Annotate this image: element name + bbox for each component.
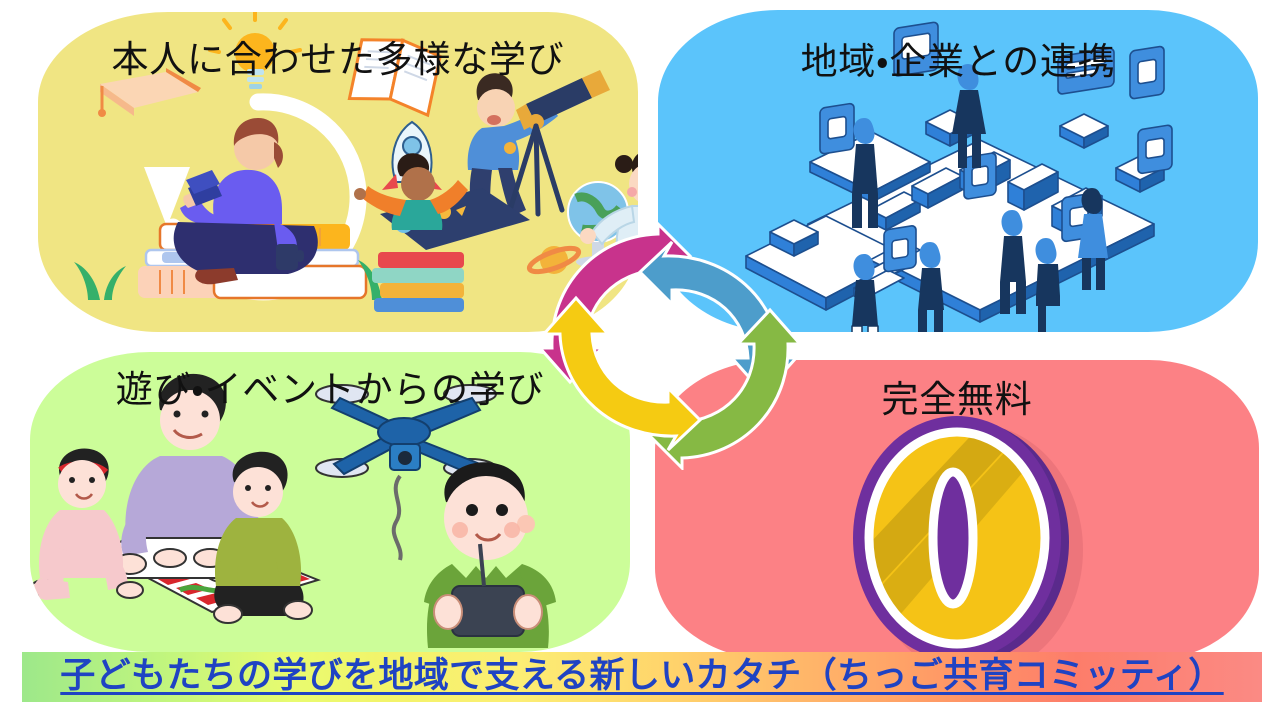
panel-partnership[interactable]: 地域・企業との連携	[658, 10, 1258, 332]
panel-play-title: 遊び・イベントからの学び	[30, 370, 630, 411]
banner-title: 子どもたちの学びを地域で支える新しいカタチ（ちっご共育コミッティ）	[22, 652, 1262, 702]
panel-play[interactable]: 遊び・イベントからの学び	[30, 352, 630, 652]
panel-learning-title: 本人に合わせた多様な学び	[38, 40, 638, 81]
panel-free-title: 完全無料	[655, 380, 1259, 421]
panel-learning[interactable]: 本人に合わせた多様な学び	[38, 12, 638, 332]
slide-canvas: 本人に合わせた多様な学び	[0, 0, 1280, 720]
bottom-banner: 子どもたちの学びを地域で支える新しいカタチ（ちっご共育コミッティ）	[22, 652, 1262, 702]
panel-free[interactable]: 完全無料	[655, 360, 1259, 660]
panel-partnership-title: 地域・企業との連携	[658, 42, 1258, 83]
